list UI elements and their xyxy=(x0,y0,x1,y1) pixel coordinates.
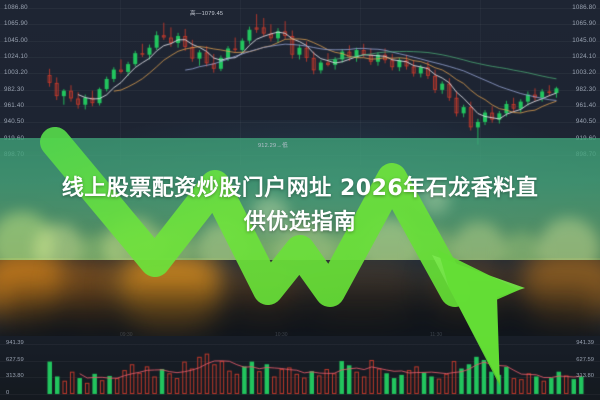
price-ytick-right: 1065.90 xyxy=(572,21,596,27)
volume-ytick-right: 313.80 xyxy=(576,374,594,380)
price-ytick-left: 1086.80 xyxy=(4,5,28,11)
low-marker-label: 912.29→低 xyxy=(258,141,288,149)
price-ytick-left: 1065.90 xyxy=(4,21,28,27)
volume-ytick-left: 313.80 xyxy=(6,374,24,380)
price-ytick-right: 1003.20 xyxy=(572,70,596,76)
price-ytick-right: 1045.00 xyxy=(572,38,596,44)
title-line-1: 线上股票配资炒股门户网址 2026年石龙香料直 xyxy=(0,172,600,206)
volume-ytick-right: 627.59 xyxy=(576,358,594,364)
stock-chart-banner: 1086.801065.901045.001024.101003.20982.3… xyxy=(0,0,600,400)
volume-chart-panel: 09:3010:3011:30 941.39627.59313.800 941.… xyxy=(0,330,600,400)
title-line-2: 供优选指南 xyxy=(0,206,600,240)
price-ytick-right: 1024.10 xyxy=(572,54,596,60)
price-ytick-left: 1024.10 xyxy=(4,54,28,60)
price-ytick-right: 982.30 xyxy=(576,87,596,93)
high-marker-label: 高—1079.45 xyxy=(190,9,223,17)
price-ytick-left: 961.40 xyxy=(4,103,24,109)
volume-ytick-left: 627.59 xyxy=(6,358,24,364)
banner-title: 线上股票配资炒股门户网址 2026年石龙香料直 供优选指南 xyxy=(0,172,600,240)
price-ytick-left: 982.30 xyxy=(4,87,24,93)
price-ytick-right: 961.40 xyxy=(576,103,596,109)
volume-canvas xyxy=(0,330,600,400)
volume-ytick-right: 941.39 xyxy=(576,341,594,347)
bokeh-orange-strip xyxy=(0,258,600,336)
volume-ytick-left: 0 xyxy=(6,391,9,397)
price-ytick-left: 1003.20 xyxy=(4,70,28,76)
price-ytick-left: 940.50 xyxy=(4,119,24,125)
price-ytick-right: 1086.80 xyxy=(572,5,596,11)
volume-ytick-left: 941.39 xyxy=(6,341,24,347)
price-ytick-left: 1045.00 xyxy=(4,38,28,44)
price-ytick-right: 940.50 xyxy=(576,119,596,125)
